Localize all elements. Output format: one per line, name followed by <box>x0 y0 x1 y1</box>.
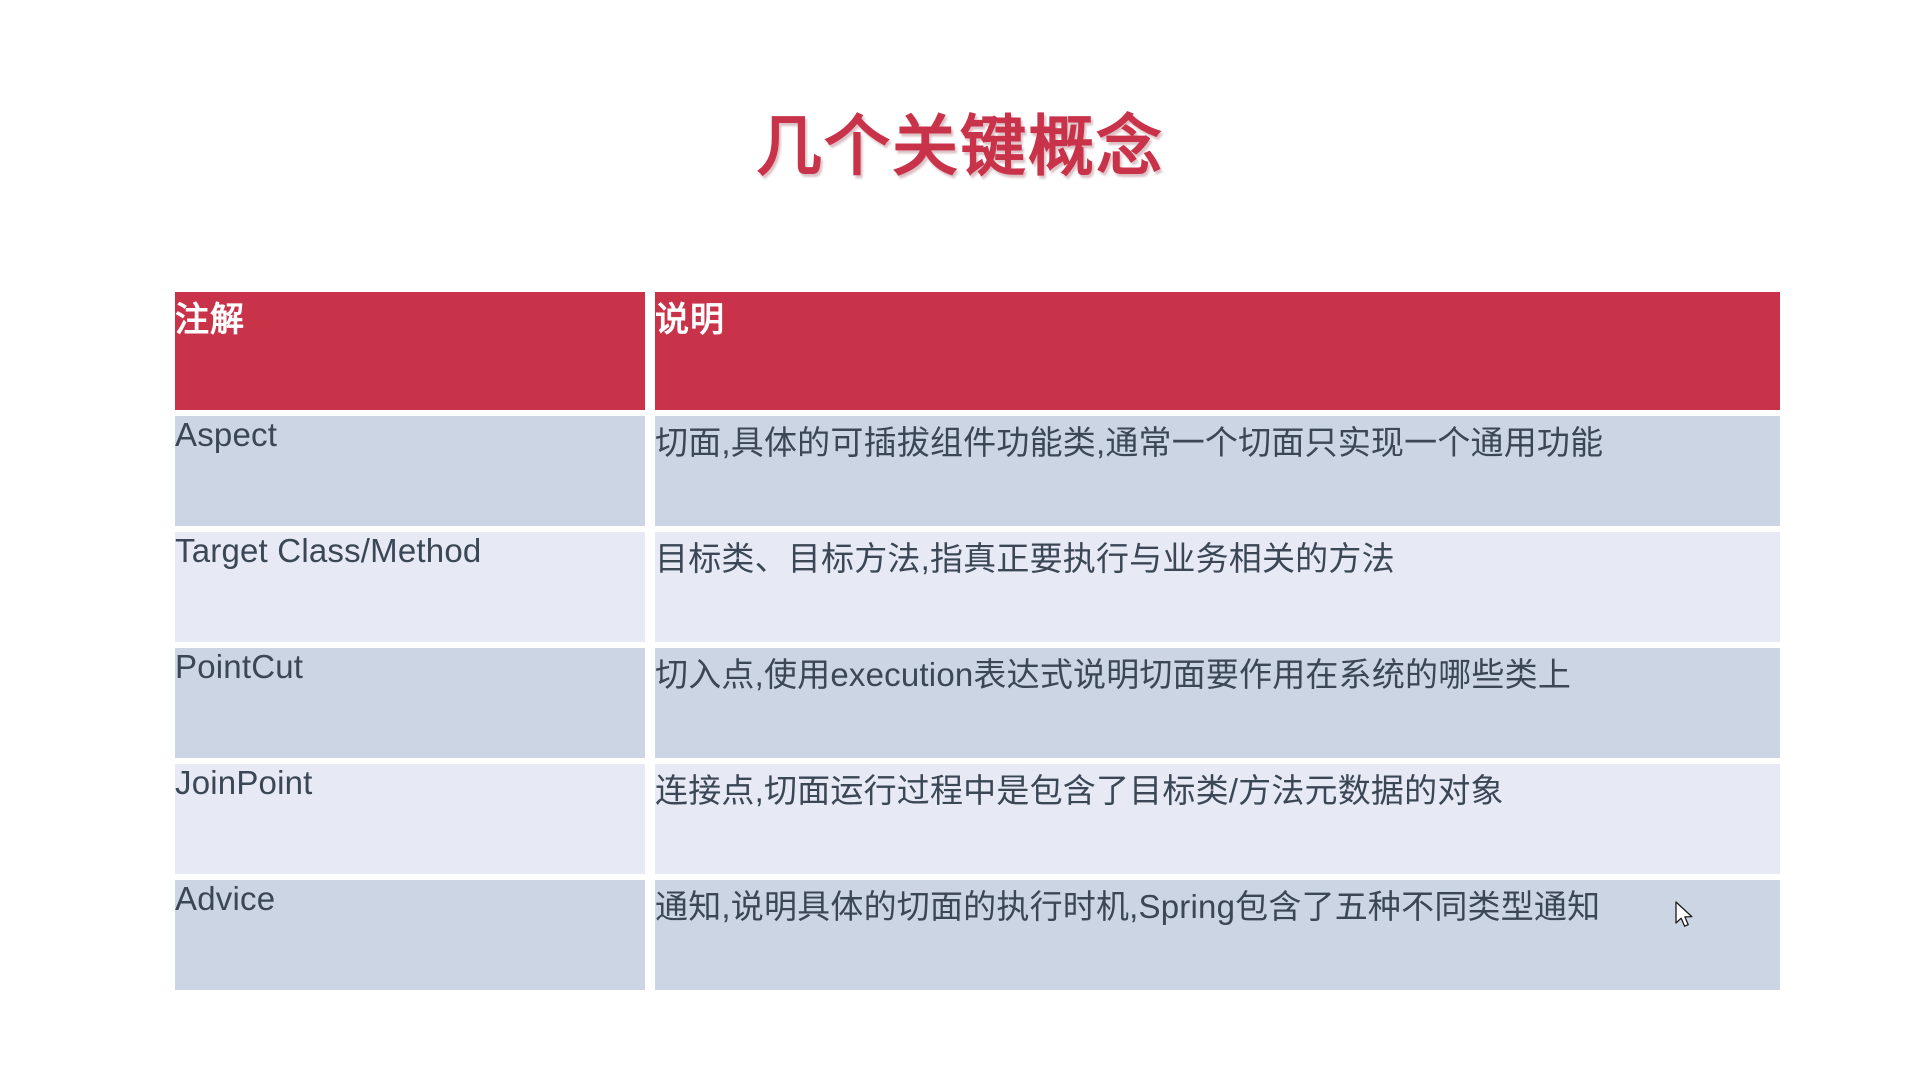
page-title: 几个关键概念 <box>0 112 1920 181</box>
key-concepts-table: 注解 说明 Aspect 切面,具体的可插拔组件功能类,通常一个切面只实现一个通… <box>175 292 1780 990</box>
table-row: JoinPoint 连接点,切面运行过程中是包含了目标类/方法元数据的对象 <box>175 764 1780 874</box>
cell-divider <box>645 764 655 874</box>
column-header-annotation: 注解 <box>175 292 645 410</box>
cell-description: 目标类、目标方法,指真正要执行与业务相关的方法 <box>655 532 1780 642</box>
table-row: PointCut 切入点,使用execution表达式说明切面要作用在系统的哪些… <box>175 648 1780 758</box>
cell-divider <box>645 532 655 642</box>
cell-divider <box>645 648 655 758</box>
column-header-description: 说明 <box>655 292 1780 410</box>
table-row: Target Class/Method 目标类、目标方法,指真正要执行与业务相关… <box>175 532 1780 642</box>
cell-description: 通知,说明具体的切面的执行时机,Spring包含了五种不同类型通知 <box>655 880 1780 990</box>
cell-annotation: Aspect <box>175 416 645 526</box>
table-row: Aspect 切面,具体的可插拔组件功能类,通常一个切面只实现一个通用功能 <box>175 416 1780 526</box>
column-divider <box>645 292 655 410</box>
cell-description: 切入点,使用execution表达式说明切面要作用在系统的哪些类上 <box>655 648 1780 758</box>
cell-annotation: Advice <box>175 880 645 990</box>
cell-annotation: Target Class/Method <box>175 532 645 642</box>
cell-divider <box>645 416 655 526</box>
cell-divider <box>645 880 655 990</box>
table-header-row: 注解 说明 <box>175 292 1780 410</box>
table-row: Advice 通知,说明具体的切面的执行时机,Spring包含了五种不同类型通知 <box>175 880 1780 990</box>
cell-description: 切面,具体的可插拔组件功能类,通常一个切面只实现一个通用功能 <box>655 416 1780 526</box>
cell-description: 连接点,切面运行过程中是包含了目标类/方法元数据的对象 <box>655 764 1780 874</box>
cell-annotation: JoinPoint <box>175 764 645 874</box>
cell-annotation: PointCut <box>175 648 645 758</box>
slide-canvas: 几个关键概念 注解 说明 Aspect 切面,具体的可插拔组件功能类,通常 <box>0 0 1920 1080</box>
